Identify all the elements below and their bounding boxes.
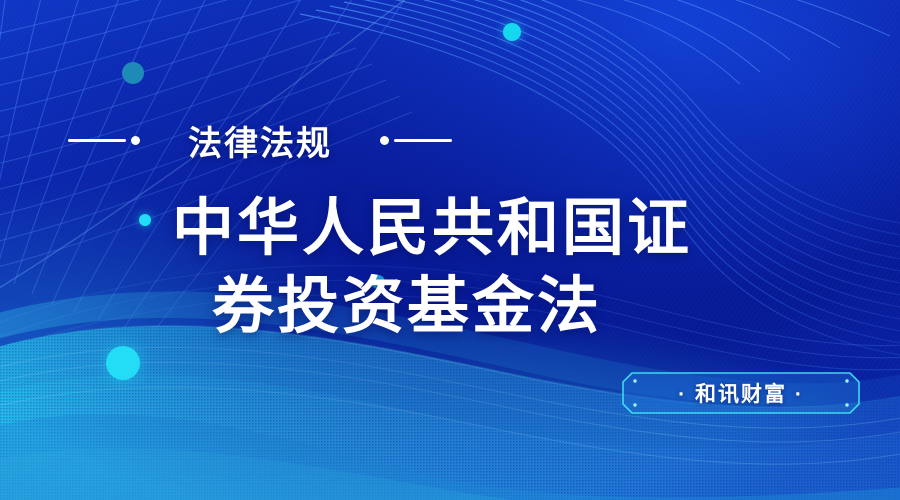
title-line-1: 中华人民共和国证: [0, 190, 900, 268]
badge-label: · 和讯财富 ·: [622, 372, 860, 414]
promo-banner: 法律法规 中华人民共和国证 券投资基金法 · 和讯财富 ·: [0, 0, 900, 500]
left-rule-line: [68, 139, 126, 142]
brand-badge[interactable]: · 和讯财富 ·: [622, 372, 860, 414]
left-rule-decoration: [68, 136, 140, 145]
subtitle-row: 法律法规: [0, 112, 520, 168]
teal-dot-top-left-icon: [122, 62, 144, 84]
right-rule-dot-icon: [380, 136, 389, 145]
cyan-dot-big-left-icon: [106, 346, 140, 380]
title-line-2: 券投资基金法: [0, 268, 900, 346]
cyan-dot-top-center-icon: [503, 23, 521, 41]
page-title: 中华人民共和国证 券投资基金法: [0, 190, 900, 346]
right-rule-decoration: [380, 136, 452, 145]
left-rule-dot-icon: [131, 136, 140, 145]
subtitle-label: 法律法规: [188, 116, 332, 165]
right-rule-line: [394, 139, 452, 142]
